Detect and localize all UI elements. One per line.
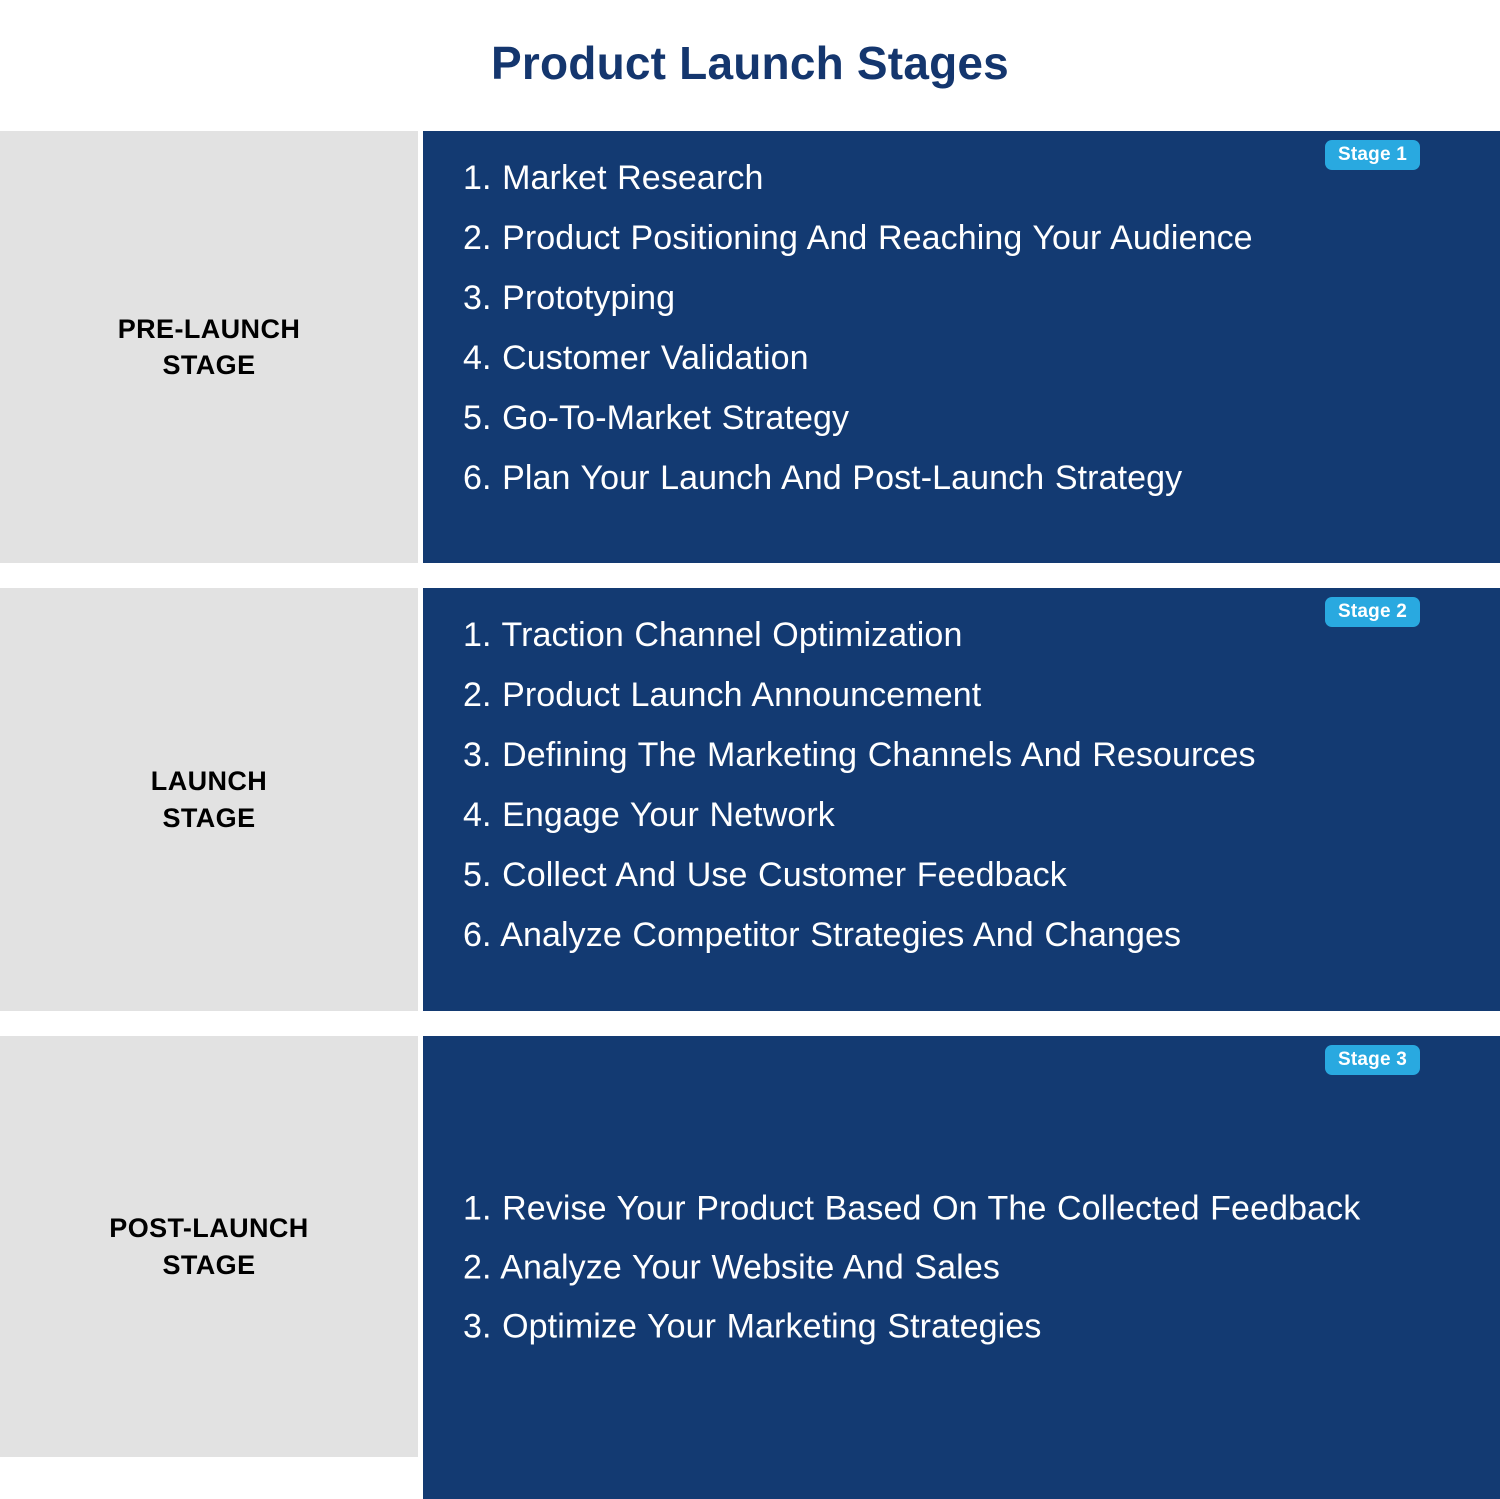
list-item: 2. Analyze Your Website And Sales — [463, 1238, 1486, 1297]
stage-label-cell: Pre-Launch Stage — [0, 131, 418, 563]
list-item: 5. Collect And Use Customer Feedback — [463, 845, 1486, 905]
stage-content-panel: Stage 1 1. Market Research 2. Product Po… — [423, 131, 1500, 563]
stage-row: Launch Stage Stage 2 1. Traction Channel… — [0, 588, 1500, 1011]
stage-item-list: 1. Market Research 2. Product Positionin… — [463, 148, 1486, 508]
stage-badge: Stage 1 — [1325, 140, 1420, 170]
list-item: 1. Revise Your Product Based On The Coll… — [463, 1179, 1486, 1238]
list-item: 6. Analyze Competitor Strategies And Cha… — [463, 905, 1486, 965]
stage-label: Launch Stage — [151, 763, 267, 836]
stage-row: Pre-Launch Stage Stage 1 1. Market Resea… — [0, 131, 1500, 563]
list-item: 5. Go-To-Market Strategy — [463, 388, 1486, 448]
list-item: 6. Plan Your Launch And Post-Launch Stra… — [463, 448, 1486, 508]
stage-badge: Stage 2 — [1325, 597, 1420, 627]
page-header: Product Launch Stages — [0, 0, 1500, 131]
list-item: 3. Prototyping — [463, 268, 1486, 328]
stage-item-list: 1. Traction Channel Optimization 2. Prod… — [463, 605, 1486, 965]
list-item: 3. Optimize Your Marketing Strategies — [463, 1297, 1486, 1356]
stage-label: Post-Launch Stage — [109, 1210, 308, 1283]
list-item: 2. Product Launch Announcement — [463, 665, 1486, 725]
stage-label: Pre-Launch Stage — [118, 311, 301, 384]
stage-row: Post-Launch Stage Stage 3 1. Revise Your… — [0, 1036, 1500, 1499]
stage-badge: Stage 3 — [1325, 1045, 1420, 1075]
list-item: 4. Engage Your Network — [463, 785, 1486, 845]
list-item: 2. Product Positioning And Reaching Your… — [463, 208, 1486, 268]
stage-content-panel: Stage 3 1. Revise Your Product Based On … — [423, 1036, 1500, 1499]
list-item: 4. Customer Validation — [463, 328, 1486, 388]
stage-label-cell: Post-Launch Stage — [0, 1036, 418, 1457]
stage-label-cell: Launch Stage — [0, 588, 418, 1011]
page-title: Product Launch Stages — [491, 40, 1009, 92]
stage-item-list: 1. Revise Your Product Based On The Coll… — [463, 1179, 1486, 1356]
stage-content-panel: Stage 2 1. Traction Channel Optimization… — [423, 588, 1500, 1011]
list-item: 3. Defining The Marketing Channels And R… — [463, 725, 1486, 785]
